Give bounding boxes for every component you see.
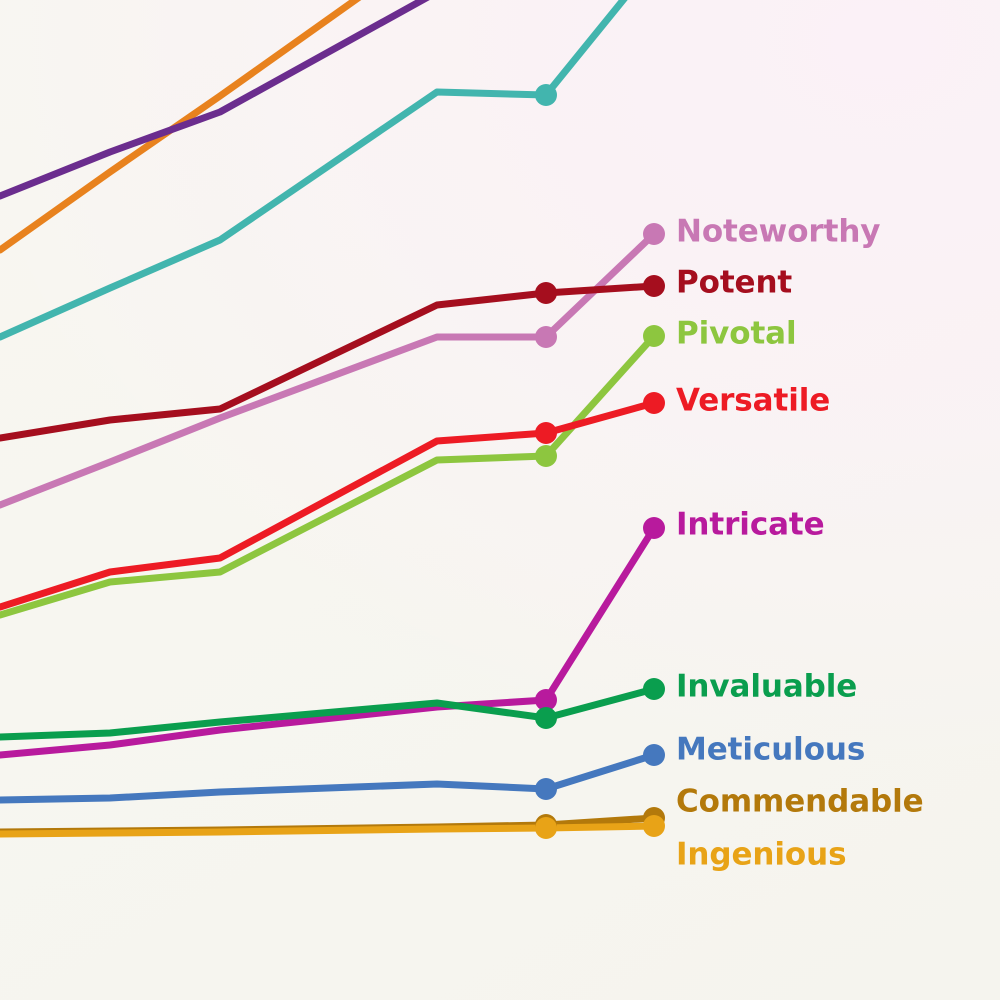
series-label-potent[interactable]: Potent [676,268,792,299]
series-label-meticulous[interactable]: Meticulous [676,735,865,766]
line-chart: NoteworthyPotentPivotalVersatileIntricat… [0,0,1000,1000]
series-label-versatile[interactable]: Versatile [676,386,830,417]
series-label-intricate[interactable]: Intricate [676,510,825,541]
series-label-invaluable[interactable]: Invaluable [676,672,857,703]
series-labels-layer: NoteworthyPotentPivotalVersatileIntricat… [0,0,1000,1000]
series-label-noteworthy[interactable]: Noteworthy [676,217,880,248]
series-label-ingenious[interactable]: Ingenious [676,840,846,871]
series-label-pivotal[interactable]: Pivotal [676,319,797,350]
series-label-commendable[interactable]: Commendable [676,787,924,818]
